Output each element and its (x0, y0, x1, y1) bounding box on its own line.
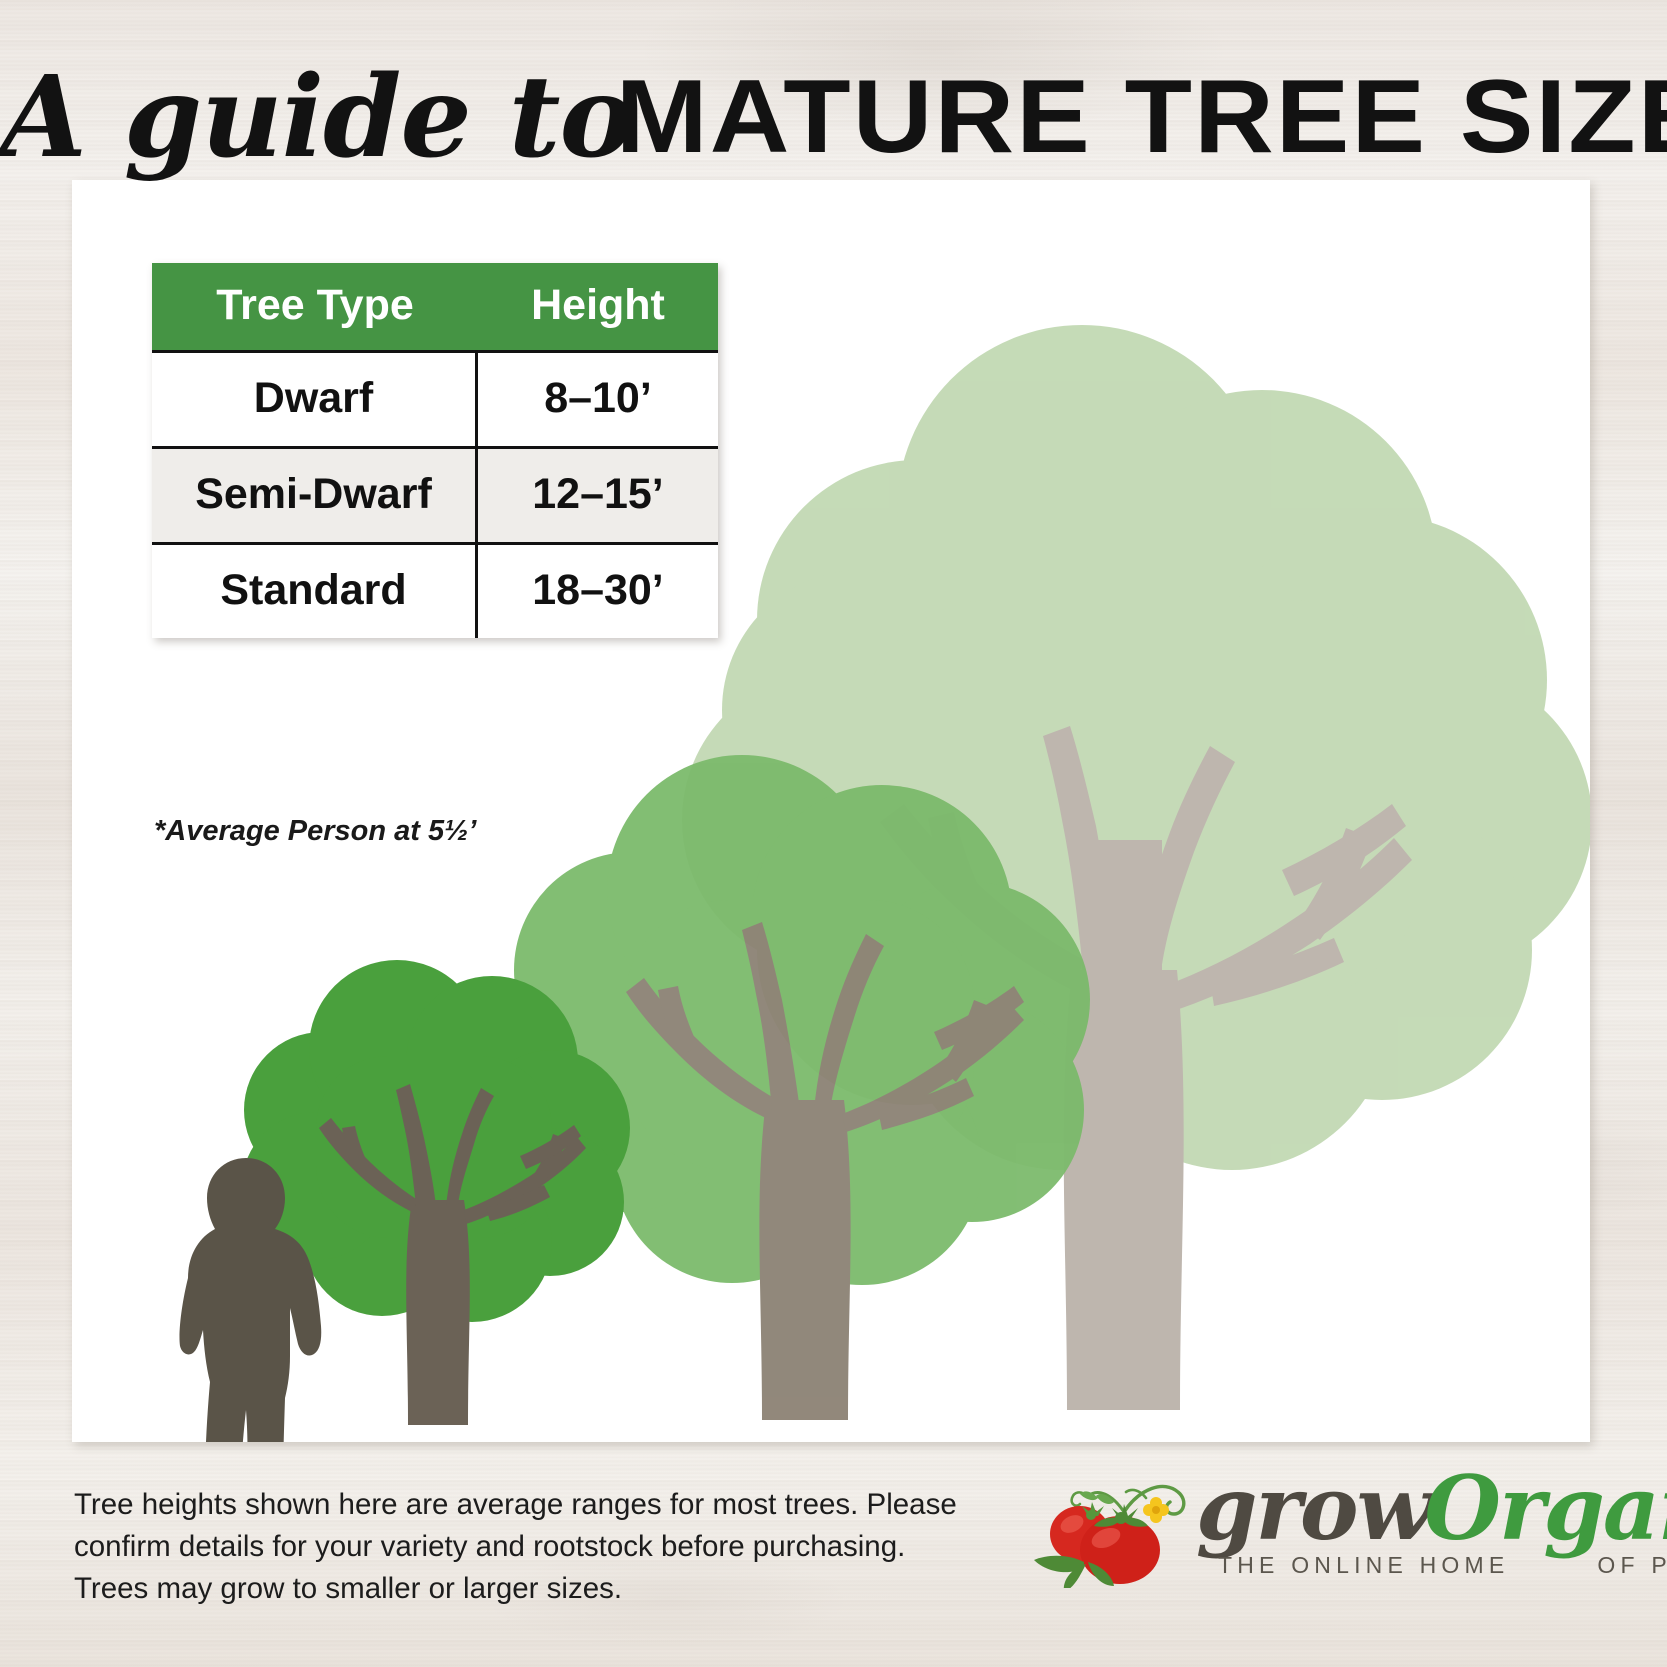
cell-height-semi-dwarf: 12–15’ (478, 449, 718, 542)
logo-grow-text: grow (1196, 1456, 1430, 1560)
tagline-part-1: THE ONLINE HOME (1218, 1552, 1509, 1578)
logo-organic-text: Organic (1424, 1456, 1667, 1560)
infographic-card: Tree Type Height Dwarf 8–10’ Semi-Dwarf … (72, 180, 1590, 1442)
tagline-part-2: OF PEACEFUL VALLEY (1597, 1552, 1667, 1578)
title-block-text: MATURE TREE SIZES (616, 58, 1667, 177)
page-title: A guide toMATURE TREE SIZES (0, 52, 1667, 183)
table-row: Standard 18–30’ (152, 542, 718, 638)
header-height: Height (478, 263, 718, 350)
disclaimer-text: Tree heights shown here are average rang… (74, 1484, 974, 1610)
tree-size-table: Tree Type Height Dwarf 8–10’ Semi-Dwarf … (152, 263, 718, 638)
title-script-text: A guide to (0, 52, 633, 183)
header-tree-type: Tree Type (152, 263, 478, 350)
tomatoes-icon (1028, 1458, 1208, 1588)
cell-tree-type-dwarf: Dwarf (152, 353, 478, 446)
logo-wordmark: growOrganic.COM (1196, 1456, 1667, 1560)
table-header-row: Tree Type Height (152, 263, 718, 350)
logo-tagline: THE ONLINE HOMEOF PEACEFUL VALLEY (1218, 1552, 1667, 1579)
table-row: Dwarf 8–10’ (152, 350, 718, 446)
table-footnote: *Average Person at 5½’ (154, 815, 476, 848)
cell-tree-type-standard: Standard (152, 545, 478, 638)
cell-height-standard: 18–30’ (478, 545, 718, 638)
table-row: Semi-Dwarf 12–15’ (152, 446, 718, 542)
grow-organic-logo[interactable]: growOrganic.COM THE ONLINE HOMEOF PEACEF… (1028, 1444, 1608, 1594)
cell-height-dwarf: 8–10’ (478, 353, 718, 446)
cell-tree-type-semi-dwarf: Semi-Dwarf (152, 449, 478, 542)
